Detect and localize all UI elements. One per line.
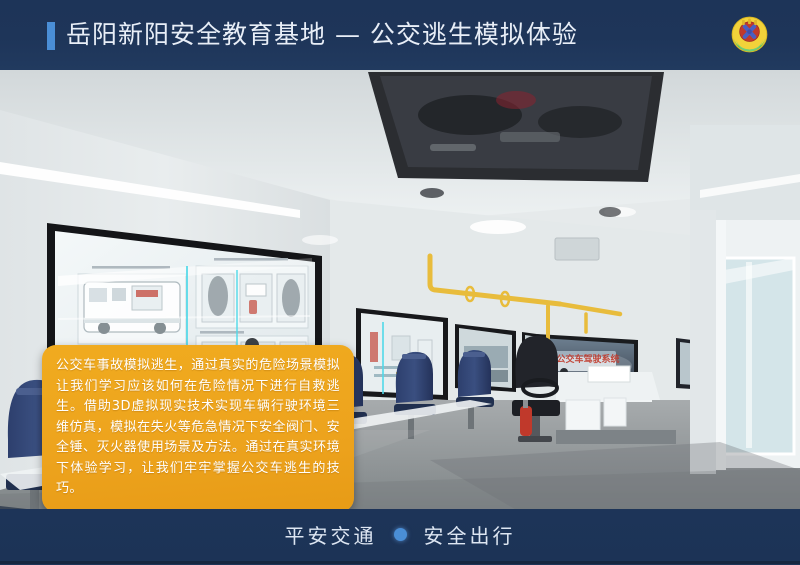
footer-left-text: 平安交通 — [285, 520, 377, 549]
svg-text:公交车驾驶系统: 公交车驾驶系统 — [556, 353, 619, 365]
page-footer: 平安交通 安全出行 — [0, 509, 800, 565]
page-header: 岳阳新阳安全教育基地 — 公交逃生模拟体验 — [0, 0, 800, 70]
page-title: 岳阳新阳安全教育基地 — 公交逃生模拟体验 — [66, 18, 578, 52]
footer-divider — [0, 561, 800, 564]
traffic-police-badge-logo — [726, 11, 773, 58]
header-accent-bar — [47, 22, 55, 50]
footer-slogan: 平安交通 安全出行 — [0, 509, 800, 559]
footer-dot-separator — [394, 528, 407, 541]
footer-right-text: 安全出行 — [424, 520, 516, 549]
slide-root: 岳阳新阳安全教育基地 — 公交逃生模拟体验 — [0, 0, 800, 565]
description-callout: 公交车事故模拟逃生，通过真实的危险场景模拟让我们学习应该如何在危险情况下进行自救… — [42, 345, 354, 512]
